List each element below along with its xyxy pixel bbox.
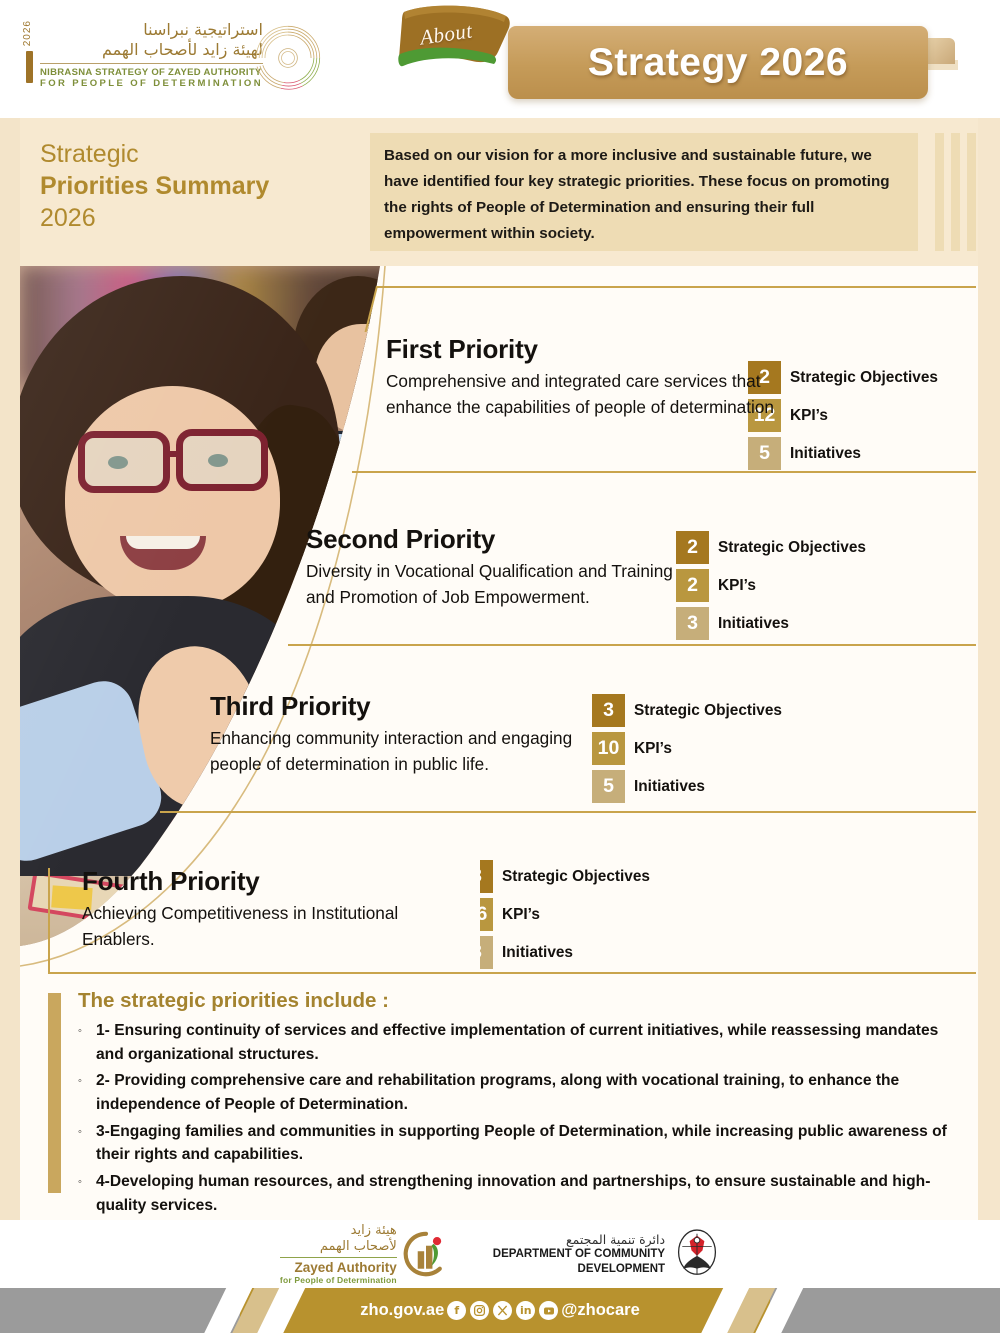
stat-label: Strategic Objectives bbox=[790, 369, 938, 387]
priority-fourth-stats: 3Strategic Objectives 16KPI’s 3Initiativ… bbox=[460, 860, 650, 974]
priority-item-third: Third Priority Enhancing community inter… bbox=[210, 691, 580, 777]
intro-heading-line-1: Strategic bbox=[40, 138, 360, 170]
intro-heading-line-3: 2026 bbox=[40, 202, 360, 234]
linkedin-icon[interactable]: in bbox=[516, 1301, 535, 1320]
stat-row: 2KPI’s bbox=[676, 569, 866, 602]
logo-english-line-1: NIBRASNA STRATEGY OF ZAYED AUTHORITY bbox=[40, 67, 263, 78]
include-section-list: ◦ 1- Ensuring continuity of services and… bbox=[78, 1019, 968, 1221]
dcd-english-line-1: DEPARTMENT OF COMMUNITY bbox=[493, 1247, 665, 1261]
bullet-icon: ◦ bbox=[78, 1120, 96, 1167]
zayed-english-line-1: Zayed Authority bbox=[280, 1260, 397, 1275]
stat-row: 3Initiatives bbox=[676, 607, 866, 640]
include-section-accent-bar bbox=[48, 993, 61, 1193]
priority-4-bottom-rule bbox=[48, 972, 976, 974]
stat-chip: 10 bbox=[592, 732, 625, 765]
stat-row: 3Strategic Objectives bbox=[592, 694, 782, 727]
list-item-text: 2- Providing comprehensive care and reha… bbox=[96, 1069, 968, 1116]
about-tab[interactable]: About bbox=[398, 4, 513, 74]
priority-3-bottom-rule bbox=[160, 811, 976, 813]
title-banner: Strategy 2026 bbox=[508, 26, 928, 99]
infographic-page: 2026 استراتيجية نبراسنا لهيئة زايد لأصحا… bbox=[0, 0, 1000, 1333]
priority-2-bottom-rule bbox=[288, 644, 976, 646]
stat-row: 5Initiatives bbox=[592, 770, 782, 803]
priority-description: Achieving Competitiveness in Institution… bbox=[82, 900, 452, 952]
footer-social-row: zho.gov.ae f in @zhocare bbox=[0, 1288, 1000, 1333]
footer-logos: هيئة زايد لأصحاب الهمم Zayed Authority f… bbox=[0, 1220, 1000, 1288]
social-handle[interactable]: @zhocare bbox=[561, 1301, 639, 1320]
stat-row: 2Strategic Objectives bbox=[676, 531, 866, 564]
stat-chip: 3 bbox=[592, 694, 625, 727]
logo-english-line-2: FOR PEOPLE OF DETERMINATION bbox=[40, 78, 263, 89]
zayed-arabic-line-2: لأصحاب الهمم bbox=[280, 1239, 397, 1255]
right-edge-strip bbox=[978, 118, 1000, 1220]
spiral-emblem-icon bbox=[252, 22, 324, 94]
facebook-icon[interactable]: f bbox=[447, 1301, 466, 1320]
stat-chip: 5 bbox=[592, 770, 625, 803]
nibrasna-strategy-logo: 2026 استراتيجية نبراسنا لهيئة زايد لأصحا… bbox=[22, 20, 263, 89]
logo-year-label: 2026 bbox=[22, 20, 33, 48]
stat-label: KPI’s bbox=[790, 407, 828, 425]
priority-title: Second Priority bbox=[306, 524, 696, 555]
x-icon[interactable] bbox=[493, 1301, 512, 1320]
stat-label: KPI’s bbox=[634, 740, 672, 758]
priority-description: Enhancing community interaction and enga… bbox=[210, 725, 580, 777]
priority-title: Third Priority bbox=[210, 691, 580, 722]
zayed-arabic-line-1: هيئة زايد bbox=[280, 1223, 397, 1239]
list-item: ◦ 1- Ensuring continuity of services and… bbox=[78, 1019, 968, 1066]
page-title: Strategy 2026 bbox=[508, 26, 928, 99]
stat-chip: 5 bbox=[748, 437, 781, 470]
abu-dhabi-crest-icon bbox=[674, 1228, 720, 1280]
stat-label: Initiatives bbox=[634, 778, 705, 796]
priority-1-bottom-rule bbox=[352, 471, 976, 473]
intro-decorative-bars bbox=[935, 133, 981, 251]
youtube-icon[interactable] bbox=[539, 1301, 558, 1320]
list-item: ◦ 4-Developing human resources, and stre… bbox=[78, 1170, 968, 1217]
priority-third-stats: 3Strategic Objectives 10KPI’s 5Initiativ… bbox=[592, 694, 782, 808]
priority-4-left-rule bbox=[48, 868, 50, 972]
dcd-logo: دائرة تنمية المجتمع DEPARTMENT OF COMMUN… bbox=[493, 1228, 720, 1280]
intro-paragraph: Based on our vision for a more inclusive… bbox=[370, 133, 918, 251]
dcd-arabic: دائرة تنمية المجتمع bbox=[493, 1232, 665, 1247]
list-item-text: 4-Developing human resources, and streng… bbox=[96, 1170, 968, 1217]
priority-1-top-rule bbox=[376, 286, 976, 288]
logo-accent-bar bbox=[26, 51, 33, 83]
intro-heading: Strategic Priorities Summary 2026 bbox=[40, 138, 360, 234]
priority-item-second: Second Priority Diversity in Vocational … bbox=[306, 524, 696, 610]
stat-label: KPI’s bbox=[718, 577, 756, 595]
stat-chip: 16 bbox=[460, 898, 493, 931]
page-header: 2026 استراتيجية نبراسنا لهيئة زايد لأصحا… bbox=[0, 0, 1000, 118]
zayed-authority-logo: هيئة زايد لأصحاب الهمم Zayed Authority f… bbox=[280, 1223, 449, 1286]
stat-chip: 3 bbox=[676, 607, 709, 640]
stat-label: Strategic Objectives bbox=[502, 868, 650, 886]
instagram-icon[interactable] bbox=[470, 1301, 489, 1320]
banner-fold-corner bbox=[925, 38, 955, 64]
stat-row: 10KPI’s bbox=[592, 732, 782, 765]
zayed-authority-mark-icon bbox=[403, 1231, 449, 1277]
stat-label: Strategic Objectives bbox=[634, 702, 782, 720]
logo-arabic-line-1: استراتيجية نبراسنا bbox=[40, 20, 263, 40]
intro-heading-line-2: Priorities Summary bbox=[40, 170, 360, 202]
left-edge-strip bbox=[0, 0, 20, 1288]
stat-row: 5Initiatives bbox=[748, 437, 938, 470]
bullet-icon: ◦ bbox=[78, 1069, 96, 1116]
stat-chip: 3 bbox=[460, 936, 493, 969]
website-url[interactable]: zho.gov.ae bbox=[360, 1301, 444, 1320]
stat-label: KPI’s bbox=[502, 906, 540, 924]
logo-divider bbox=[40, 63, 263, 64]
bullet-icon: ◦ bbox=[78, 1019, 96, 1066]
stat-row: 3Initiatives bbox=[460, 936, 650, 969]
list-item: ◦ 2- Providing comprehensive care and re… bbox=[78, 1069, 968, 1116]
list-item-text: 3-Engaging families and communities in s… bbox=[96, 1120, 968, 1167]
stat-label: Initiatives bbox=[502, 944, 573, 962]
priority-second-stats: 2Strategic Objectives 2KPI’s 3Initiative… bbox=[676, 531, 866, 645]
stat-row: 16KPI’s bbox=[460, 898, 650, 931]
include-section-heading: The strategic priorities include : bbox=[78, 989, 389, 1013]
logo-arabic-line-2: لهيئة زايد لأصحاب الهمم bbox=[40, 40, 263, 60]
dcd-english-line-2: DEVELOPMENT bbox=[493, 1262, 665, 1276]
priority-item-first: First Priority Comprehensive and integra… bbox=[386, 334, 786, 420]
footer-social-bar: zho.gov.ae f in @zhocare bbox=[0, 1288, 1000, 1333]
priority-description: Comprehensive and integrated care servic… bbox=[386, 368, 786, 420]
priority-title: Fourth Priority bbox=[82, 866, 452, 897]
priority-description: Diversity in Vocational Qualification an… bbox=[306, 558, 696, 610]
list-item: ◦ 3-Engaging families and communities in… bbox=[78, 1120, 968, 1167]
strategic-priorities-include-section: The strategic priorities include : ◦ 1- … bbox=[20, 985, 978, 1207]
zayed-english-line-2: for People of Determination bbox=[280, 1275, 397, 1285]
stat-label: Strategic Objectives bbox=[718, 539, 866, 557]
stat-row: 3Strategic Objectives bbox=[460, 860, 650, 893]
bullet-icon: ◦ bbox=[78, 1170, 96, 1217]
list-item-text: 1- Ensuring continuity of services and e… bbox=[96, 1019, 968, 1066]
intro-section: Strategic Priorities Summary 2026 Based … bbox=[20, 118, 978, 266]
logo-year-block: 2026 bbox=[22, 20, 33, 89]
stat-chip: 3 bbox=[460, 860, 493, 893]
stat-label: Initiatives bbox=[790, 445, 861, 463]
zayed-logo-divider bbox=[280, 1257, 397, 1258]
priority-title: First Priority bbox=[386, 334, 786, 365]
stat-label: Initiatives bbox=[718, 615, 789, 633]
priority-item-fourth: Fourth Priority Achieving Competitivenes… bbox=[82, 866, 452, 952]
